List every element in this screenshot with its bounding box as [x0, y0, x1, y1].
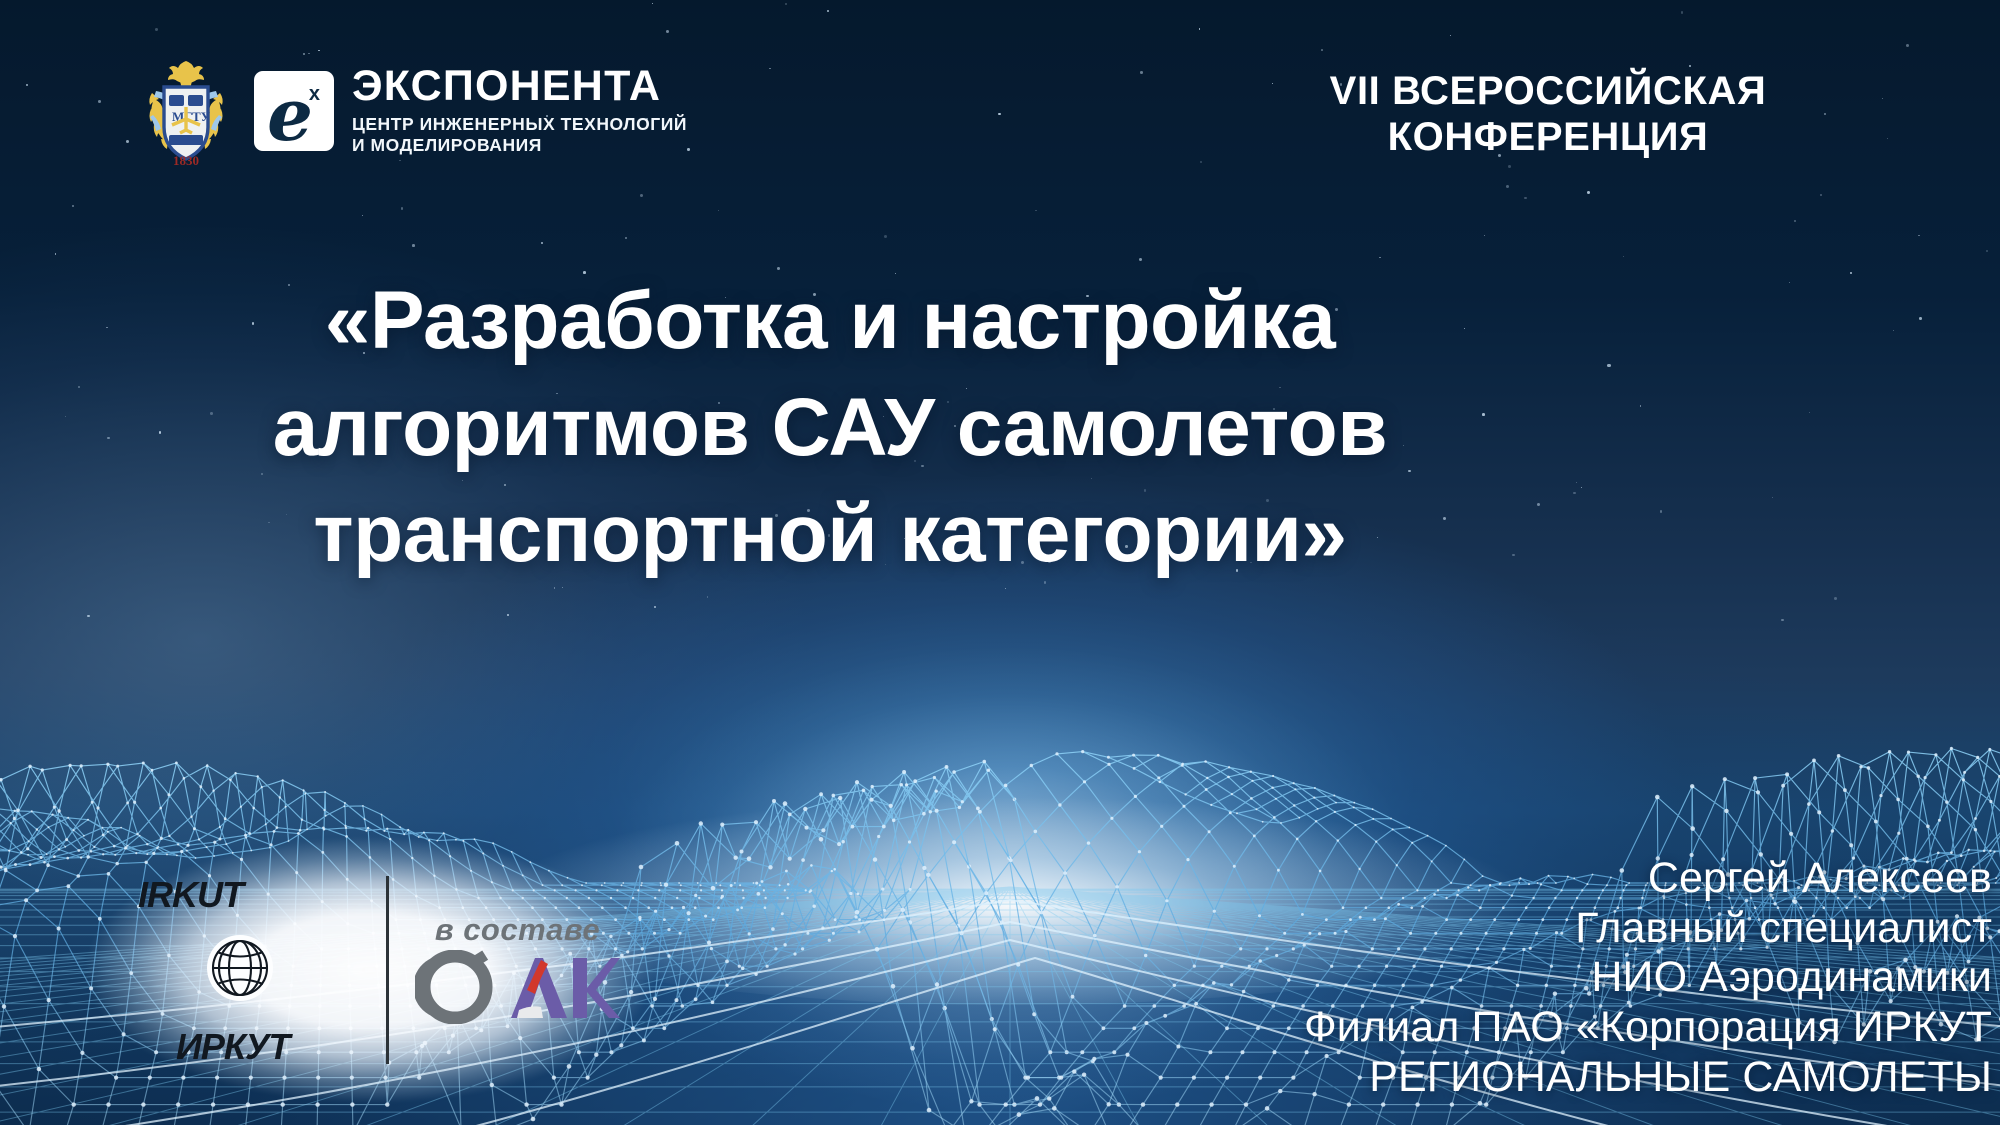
- star: [718, 210, 719, 211]
- irkut-wordmark-latin: IRKUT: [138, 874, 243, 916]
- star: [769, 68, 771, 70]
- oak-prefix-label: в составе: [415, 912, 620, 948]
- conference-line-1: VII ВСЕРОССИЙСКАЯ: [1330, 69, 1767, 113]
- star: [640, 194, 643, 197]
- exponenta-e-to-the-x-icon: e x: [254, 71, 334, 151]
- star: [26, 84, 27, 85]
- star: [1506, 185, 1509, 188]
- presentation-title-slide: МГ ТУ 1830 e x ЭКСПОНЕНТА ЦЕНТР ИНЖЕНЕРН…: [0, 0, 2000, 1125]
- title-line-2: алгоритмов САУ самолетов: [180, 375, 1480, 482]
- star: [55, 253, 57, 255]
- star: [1524, 197, 1527, 200]
- star: [1681, 11, 1683, 13]
- star: [1450, 35, 1451, 36]
- star: [625, 237, 627, 239]
- star: [1508, 165, 1511, 168]
- star: [1607, 364, 1610, 367]
- star: [1919, 317, 1922, 320]
- star: [1035, 210, 1037, 212]
- star: [1809, 412, 1810, 413]
- star: [412, 244, 415, 247]
- star: [78, 386, 80, 388]
- star: [1820, 194, 1822, 196]
- conference-line-2: КОНФЕРЕНЦИЯ: [1238, 114, 1858, 160]
- conference-heading: VII ВСЕРОССИЙСКАЯ КОНФЕРЕНЦИЯ: [1238, 68, 1858, 161]
- star: [159, 431, 162, 434]
- star: [1623, 256, 1624, 257]
- star: [126, 140, 129, 143]
- bauman-mstu-emblem-icon: МГ ТУ 1830: [140, 55, 232, 167]
- star: [65, 416, 66, 417]
- star: [107, 437, 110, 440]
- star: [687, 148, 690, 151]
- exponenta-tagline-line-2: И МОДЕЛИРОВАНИЯ: [352, 135, 687, 156]
- exponenta-tagline-line-1: ЦЕНТР ИНЖЕНЕРНЫХ ТЕХНОЛОГИЙ: [352, 114, 687, 135]
- star: [1379, 257, 1381, 259]
- presentation-title: «Разработка и настройка алгоритмов САУ с…: [180, 268, 1480, 588]
- header-logo-group: МГ ТУ 1830 e x ЭКСПОНЕНТА ЦЕНТР ИНЖЕНЕРН…: [140, 55, 687, 167]
- star: [1906, 44, 1909, 47]
- star: [401, 207, 404, 210]
- irkut-logo-icon: IRKUT ИРКУТ: [120, 870, 360, 1070]
- star: [1918, 235, 1919, 236]
- star: [1482, 413, 1485, 416]
- star: [652, 3, 653, 4]
- star: [884, 235, 887, 238]
- star: [155, 28, 158, 31]
- star: [1140, 71, 1143, 74]
- exponenta-wordmark: ЭКСПОНЕНТА: [352, 65, 687, 109]
- star: [1139, 258, 1142, 261]
- star: [106, 327, 108, 329]
- exponenta-mark-exponent: x: [309, 83, 320, 106]
- star: [318, 50, 320, 52]
- star: [1484, 235, 1485, 236]
- star: [666, 30, 669, 33]
- star: [1689, 65, 1691, 67]
- star: [1986, 250, 1988, 252]
- star: [1850, 272, 1852, 274]
- author-organization-line-2: РЕГИОНАЛЬНЫЕ САМОЛЕТЫ: [1304, 1053, 1992, 1103]
- author-position: Главный специалист: [1304, 904, 1992, 954]
- oak-logo-icon: [415, 950, 620, 1029]
- star: [1199, 28, 1201, 30]
- logo-divider: [386, 876, 389, 1064]
- star: [1882, 98, 1883, 99]
- star: [1587, 191, 1590, 194]
- star: [1640, 405, 1641, 406]
- title-line-3: транспортной категории»: [180, 481, 1480, 588]
- title-line-1: «Разработка и настройка: [180, 268, 1480, 375]
- star: [785, 3, 787, 5]
- oak-affiliation: в составе: [415, 912, 620, 1029]
- star: [827, 10, 829, 12]
- star: [98, 100, 101, 103]
- star: [362, 215, 363, 216]
- star: [1887, 138, 1888, 139]
- author-organization-line-1: Филиал ПАО «Корпорация ИРКУТ: [1304, 1003, 1992, 1053]
- exponenta-mark-letter: e: [267, 79, 313, 151]
- author-info-block: Сергей Алексеев Главный специалист НИО А…: [1304, 854, 1992, 1103]
- star: [1893, 330, 1894, 331]
- author-department: НИО Аэродинамики: [1304, 953, 1992, 1003]
- irkut-wordmark-cyrillic: ИРКУТ: [176, 1026, 289, 1068]
- star: [72, 205, 75, 208]
- star: [1200, 161, 1202, 163]
- star: [998, 113, 1000, 115]
- star: [541, 242, 543, 244]
- author-name: Сергей Алексеев: [1304, 854, 1992, 904]
- bauman-year-label: 1830: [173, 153, 199, 167]
- star: [1321, 49, 1323, 51]
- star: [1794, 220, 1797, 223]
- irkut-logo-block: IRKUT ИРКУТ в составе: [40, 805, 700, 1125]
- exponenta-logo: e x ЭКСПОНЕНТА ЦЕНТР ИНЖЕНЕРНЫХ ТЕХНОЛОГ…: [254, 65, 687, 157]
- star: [1789, 282, 1790, 283]
